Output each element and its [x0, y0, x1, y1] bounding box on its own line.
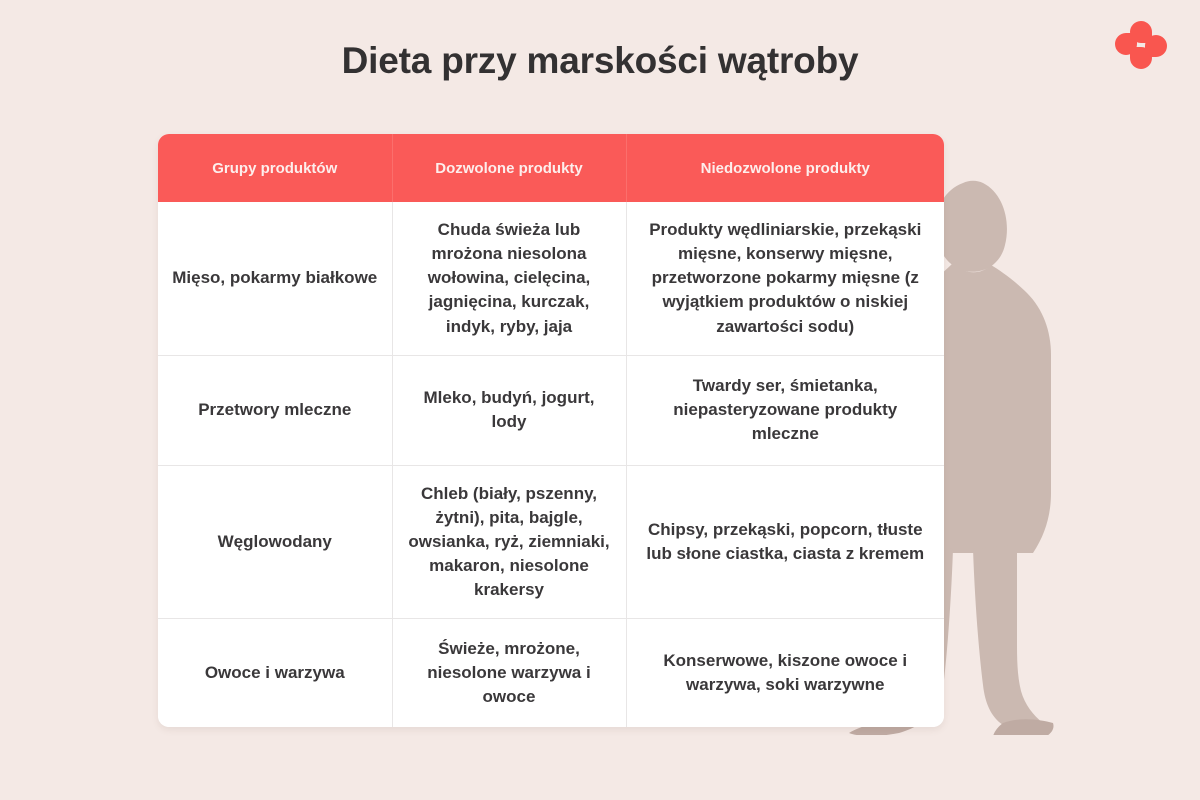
- page-title: Dieta przy marskości wątroby: [0, 40, 1200, 82]
- table-row: Przetwory mleczne Mleko, budyń, jogurt, …: [158, 355, 944, 465]
- table-header: Grupy produktów Dozwolone produkty Niedo…: [158, 134, 944, 202]
- table-row: Węglowodany Chleb (biały, pszenny, żytni…: [158, 465, 944, 619]
- cell-allowed: Chuda świeża lub mrożona niesolona wołow…: [392, 202, 626, 355]
- cell-allowed: Mleko, budyń, jogurt, lody: [392, 355, 626, 465]
- cell-forbidden: Chipsy, przekąski, popcorn, tłuste lub s…: [626, 465, 944, 619]
- diet-table-container: Grupy produktów Dozwolone produkty Niedo…: [158, 134, 944, 727]
- table-body: Mięso, pokarmy białkowe Chuda świeża lub…: [158, 202, 944, 727]
- column-header-groups: Grupy produktów: [158, 134, 392, 202]
- column-header-forbidden: Niedozwolone produkty: [626, 134, 944, 202]
- cell-group: Węglowodany: [158, 465, 392, 619]
- cell-group: Przetwory mleczne: [158, 355, 392, 465]
- clover-logo-icon: [1110, 16, 1172, 74]
- column-header-allowed: Dozwolone produkty: [392, 134, 626, 202]
- diet-table: Grupy produktów Dozwolone produkty Niedo…: [158, 134, 944, 727]
- infographic-canvas: Dieta przy marskości wątroby: [0, 0, 1200, 800]
- cell-forbidden: Twardy ser, śmietanka, niepasteryzowane …: [626, 355, 944, 465]
- cell-forbidden: Produkty wędliniarskie, przekąski mięsne…: [626, 202, 944, 355]
- table-header-row: Grupy produktów Dozwolone produkty Niedo…: [158, 134, 944, 202]
- cell-group: Mięso, pokarmy białkowe: [158, 202, 392, 355]
- cell-group: Owoce i warzywa: [158, 619, 392, 727]
- cell-allowed: Świeże, mrożone, niesolone warzywa i owo…: [392, 619, 626, 727]
- table-row: Mięso, pokarmy białkowe Chuda świeża lub…: [158, 202, 944, 355]
- cell-forbidden: Konserwowe, kiszone owoce i warzywa, sok…: [626, 619, 944, 727]
- table-row: Owoce i warzywa Świeże, mrożone, niesolo…: [158, 619, 944, 727]
- cell-allowed: Chleb (biały, pszenny, żytni), pita, baj…: [392, 465, 626, 619]
